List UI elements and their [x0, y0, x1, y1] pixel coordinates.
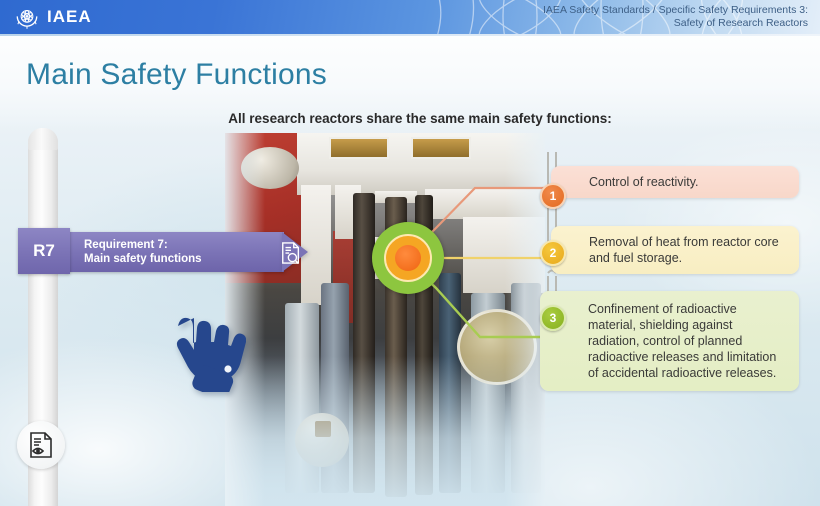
iaea-atom-logo-icon	[14, 4, 40, 30]
pointing-hand-cursor-icon[interactable]	[148, 310, 246, 392]
document-review-eye-icon	[28, 431, 54, 459]
safety-function-number-2: 2	[550, 246, 557, 260]
bullseye-target-icon	[372, 222, 444, 294]
safety-function-number-3: 3	[550, 311, 557, 325]
requirement-chip-label: R7	[33, 241, 55, 261]
safety-function-callout-1: Control of reactivity.	[551, 166, 799, 198]
safety-function-text-3: Confinement of radioactive material, shi…	[588, 302, 776, 380]
requirement-banner-text: Requirement 7: Main safety functions	[84, 238, 202, 266]
logo-text: IAEA	[47, 4, 92, 30]
safety-function-badge-2: 2	[540, 240, 566, 266]
requirement-progress-track-top	[28, 128, 58, 150]
requirement-line-2: Main safety functions	[84, 252, 202, 266]
slide-canvas: IAEA IAEA Safety Standards / Specific Sa…	[0, 0, 820, 506]
page-title: Main Safety Functions	[26, 58, 327, 92]
requirement-line-1: Requirement 7:	[84, 238, 202, 252]
requirement-chip[interactable]: R7	[18, 228, 70, 274]
slide-subtitle: All research reactors share the same mai…	[0, 111, 820, 126]
safety-function-badge-3: 3	[540, 305, 566, 331]
reactor-core-photo	[225, 133, 545, 506]
app-header: IAEA IAEA Safety Standards / Specific Sa…	[0, 0, 820, 34]
safety-function-callout-3: Confinement of radioactive material, shi…	[540, 291, 799, 391]
requirement-banner[interactable]: Requirement 7: Main safety functions	[66, 232, 318, 272]
document-review-button[interactable]	[17, 421, 65, 469]
safety-function-text-2: Removal of heat from reactor core and fu…	[589, 234, 787, 266]
header-divider	[0, 34, 820, 36]
document-search-icon	[280, 241, 302, 265]
safety-function-text-1: Control of reactivity.	[589, 174, 699, 190]
breadcrumb-line-2: Safety of Research Reactors	[543, 17, 808, 30]
breadcrumb: IAEA Safety Standards / Specific Safety …	[543, 4, 808, 30]
safety-function-badge-1: 1	[540, 183, 566, 209]
breadcrumb-line-1: IAEA Safety Standards / Specific Safety …	[543, 4, 808, 17]
safety-function-callout-2: Removal of heat from reactor core and fu…	[551, 226, 799, 274]
iaea-logo: IAEA	[14, 4, 92, 30]
safety-function-number-1: 1	[550, 189, 557, 203]
